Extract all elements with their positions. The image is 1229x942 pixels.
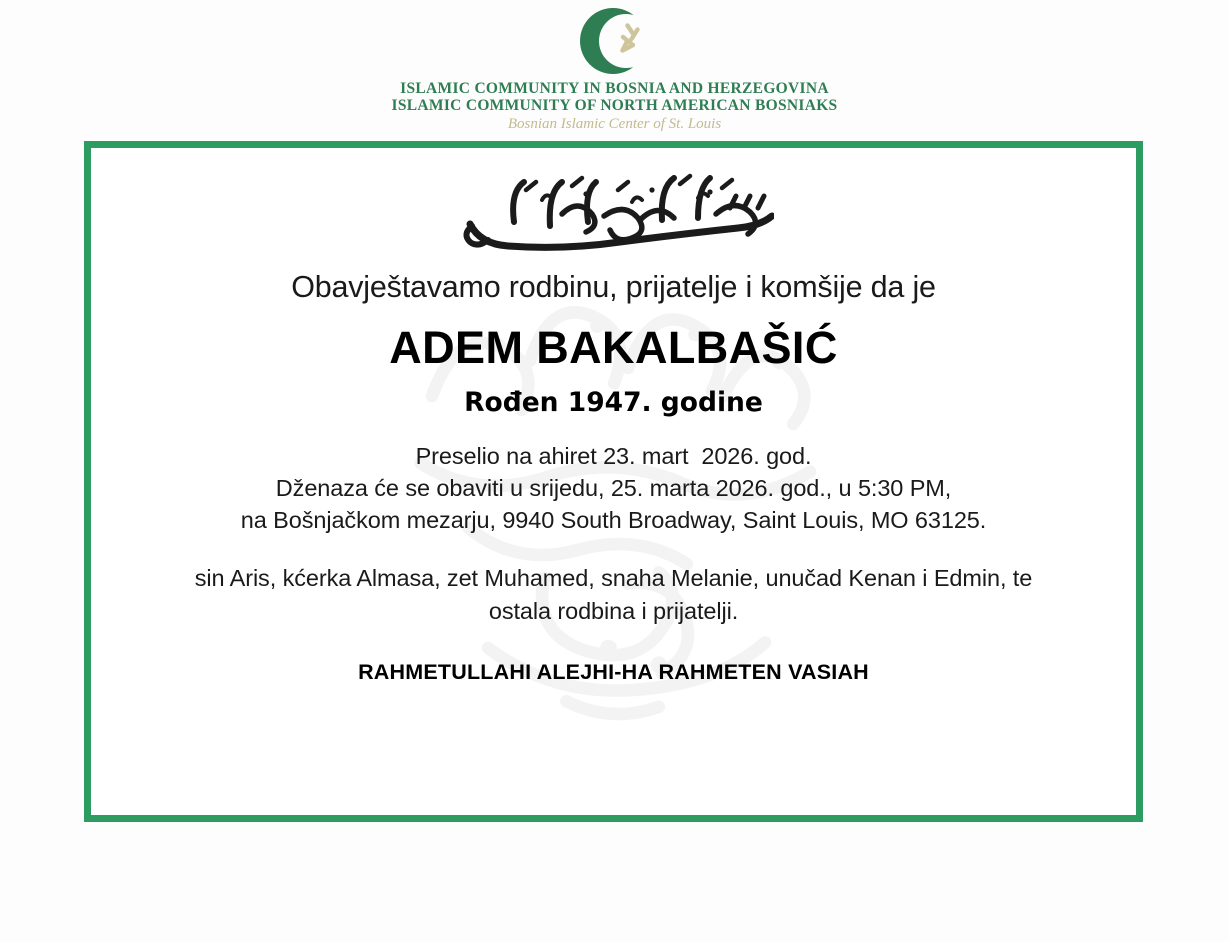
org-name-line-2: ISLAMIC COMMUNITY OF NORTH AMERICAN BOSN… — [392, 97, 838, 114]
deceased-name: ADEM BAKALBAŠIĆ — [91, 320, 1136, 376]
detail-line-funeral-time: Dženaza će se obaviti u srijedu, 25. mar… — [91, 472, 1136, 504]
birth-year-line: Rođen 1947. godine — [91, 386, 1136, 420]
obituary-notice-card: Obavještavamo rodbinu, prijatelje i komš… — [84, 141, 1143, 822]
organization-header: ISLAMIC COMMUNITY IN BOSNIA AND HERZEGOV… — [0, 0, 1229, 132]
org-name-line-1: ISLAMIC COMMUNITY IN BOSNIA AND HERZEGOV… — [400, 80, 829, 97]
announcement-text: Obavještavamo rodbinu, prijatelje i komš… — [91, 268, 1136, 306]
closing-dua: RAHMETULLAHI ALEJHI-HA RAHMETEN VASIAH — [91, 658, 1136, 686]
card-content: Obavještavamo rodbinu, prijatelje i komš… — [91, 148, 1136, 686]
funeral-details: Preselio na ahiret 23. mart 2026. god. D… — [91, 440, 1136, 536]
family-line-1: sin Aris, kćerka Almasa, zet Muhamed, sn… — [134, 562, 1094, 595]
bismillah-calligraphy-icon — [454, 164, 774, 256]
detail-line-death-date: Preselio na ahiret 23. mart 2026. god. — [91, 440, 1136, 472]
org-center-name: Bosnian Islamic Center of St. Louis — [508, 115, 721, 134]
obituary-page: ISLAMIC COMMUNITY IN BOSNIA AND HERZEGOV… — [0, 0, 1229, 942]
detail-line-cemetery-address: na Bošnjačkom mezarju, 9940 South Broadw… — [91, 504, 1136, 536]
family-line-2: ostala rodbina i prijatelji. — [134, 595, 1094, 628]
surviving-family: sin Aris, kćerka Almasa, zet Muhamed, sn… — [134, 562, 1094, 628]
crescent-star-icon — [569, 4, 661, 78]
